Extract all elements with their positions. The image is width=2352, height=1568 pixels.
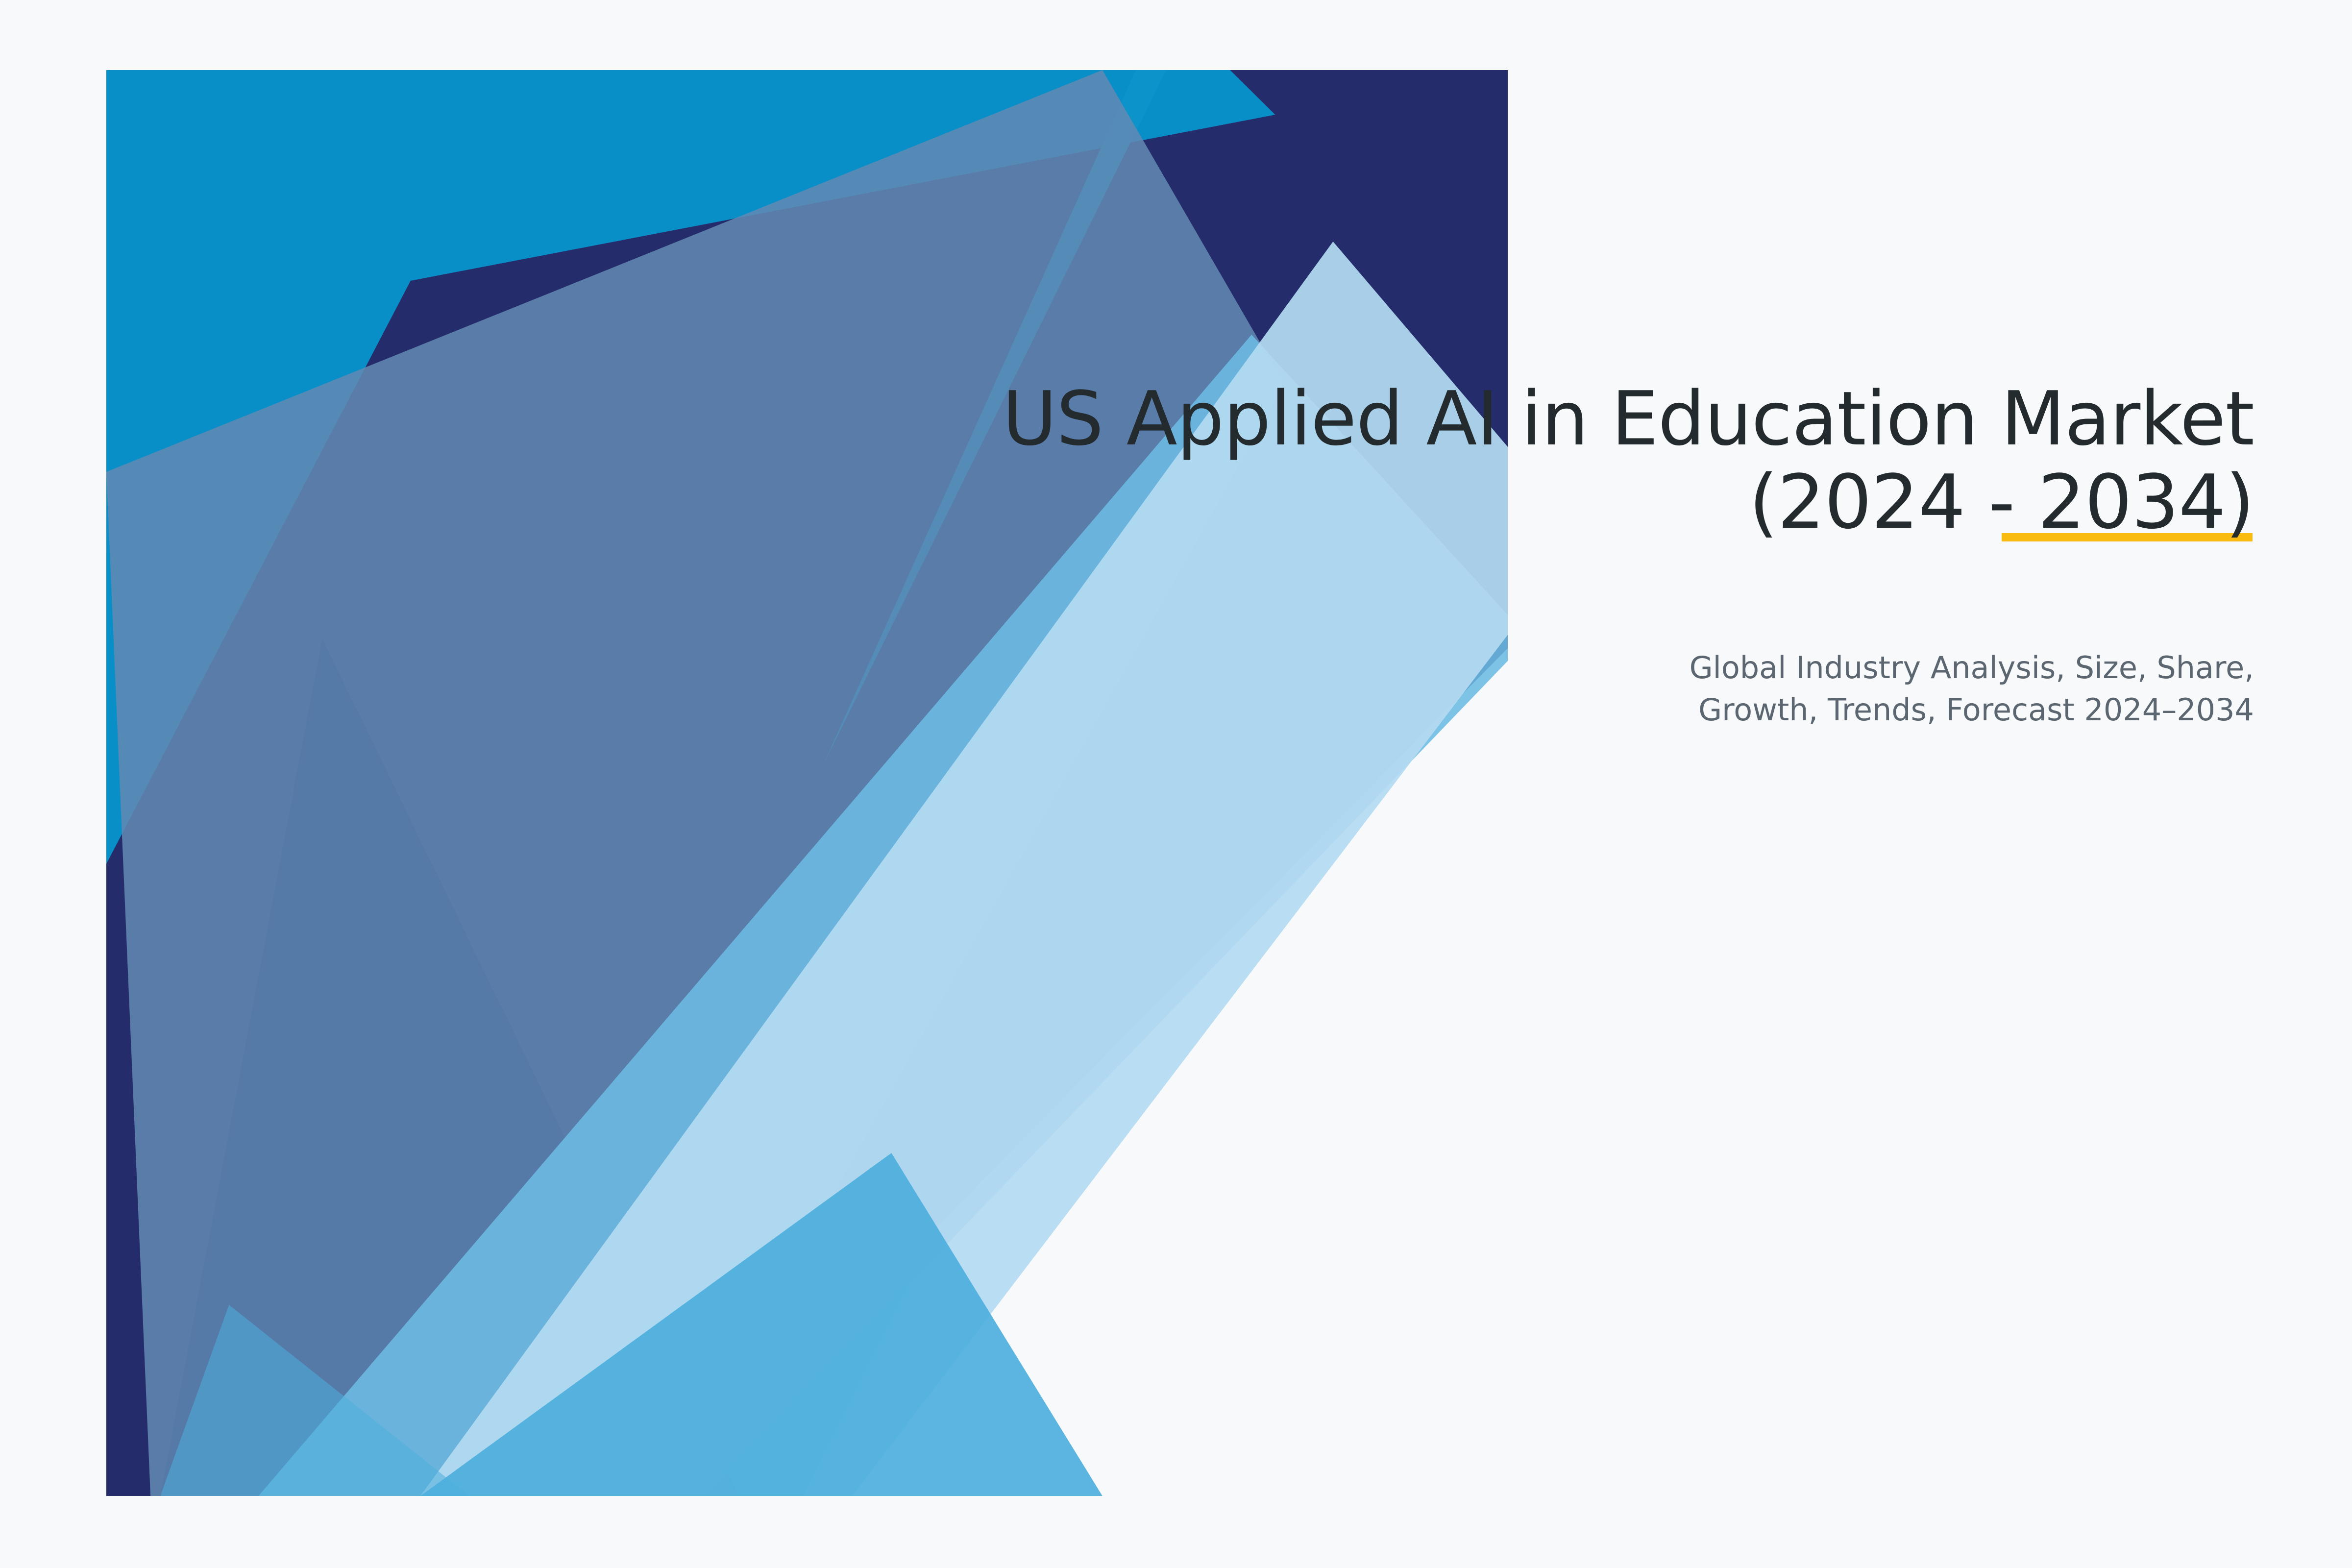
cover-page: US Applied AI in Education Market (2024 …	[0, 0, 2352, 1568]
title-block: US Applied AI in Education Market (2024 …	[931, 377, 2254, 544]
page-subtitle-line-2: Growth, Trends, Forecast 2024–2034	[931, 689, 2254, 731]
page-title: US Applied AI in Education Market (2024 …	[931, 377, 2254, 544]
page-subtitle: Global Industry Analysis, Size, Share, G…	[931, 647, 2254, 731]
page-subtitle-line-1: Global Industry Analysis, Size, Share,	[931, 647, 2254, 689]
page-title-line-2: (2024 - 2034)	[931, 461, 2254, 544]
artwork-svg	[106, 70, 1508, 1496]
page-title-line-1: US Applied AI in Education Market	[931, 377, 2254, 461]
cover-artwork	[106, 70, 1508, 1496]
